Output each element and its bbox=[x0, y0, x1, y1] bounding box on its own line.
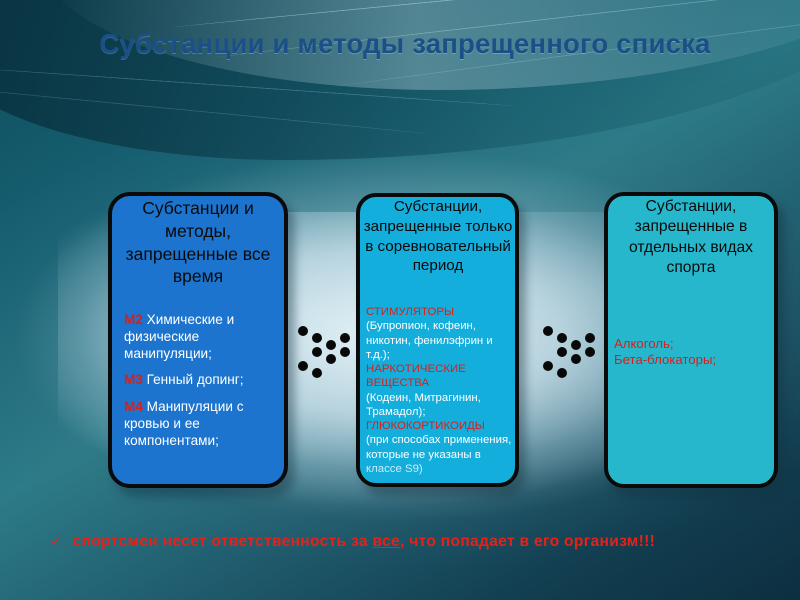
category-box-always-prohibited[interactable] bbox=[108, 192, 288, 488]
chevron-dots-icon-2 bbox=[541, 316, 603, 378]
bottom-note-part1: спортсмен несет ответственность за bbox=[68, 533, 372, 550]
category-box-particular-sports[interactable] bbox=[604, 192, 778, 488]
category-box-in-competition[interactable] bbox=[356, 193, 519, 487]
decorative-hairline-1 bbox=[172, 0, 800, 28]
slide-title: Субстанции и методы запрещенного списка bbox=[60, 26, 750, 62]
checkmark-icon: ✓ bbox=[50, 533, 62, 549]
slide-canvas: Субстанции и методы запрещенного списка … bbox=[0, 0, 800, 600]
decorative-hairline-5 bbox=[0, 83, 429, 135]
decorative-swoosh-dark bbox=[0, 0, 800, 160]
bottom-note: ✓ спортсмен несет ответственность за все… bbox=[50, 531, 768, 554]
chevron-dots-icon-1 bbox=[296, 316, 358, 378]
bottom-note-emphasis: все bbox=[373, 533, 400, 550]
bottom-note-part2: , что попадает в его организм!!! bbox=[400, 533, 655, 550]
